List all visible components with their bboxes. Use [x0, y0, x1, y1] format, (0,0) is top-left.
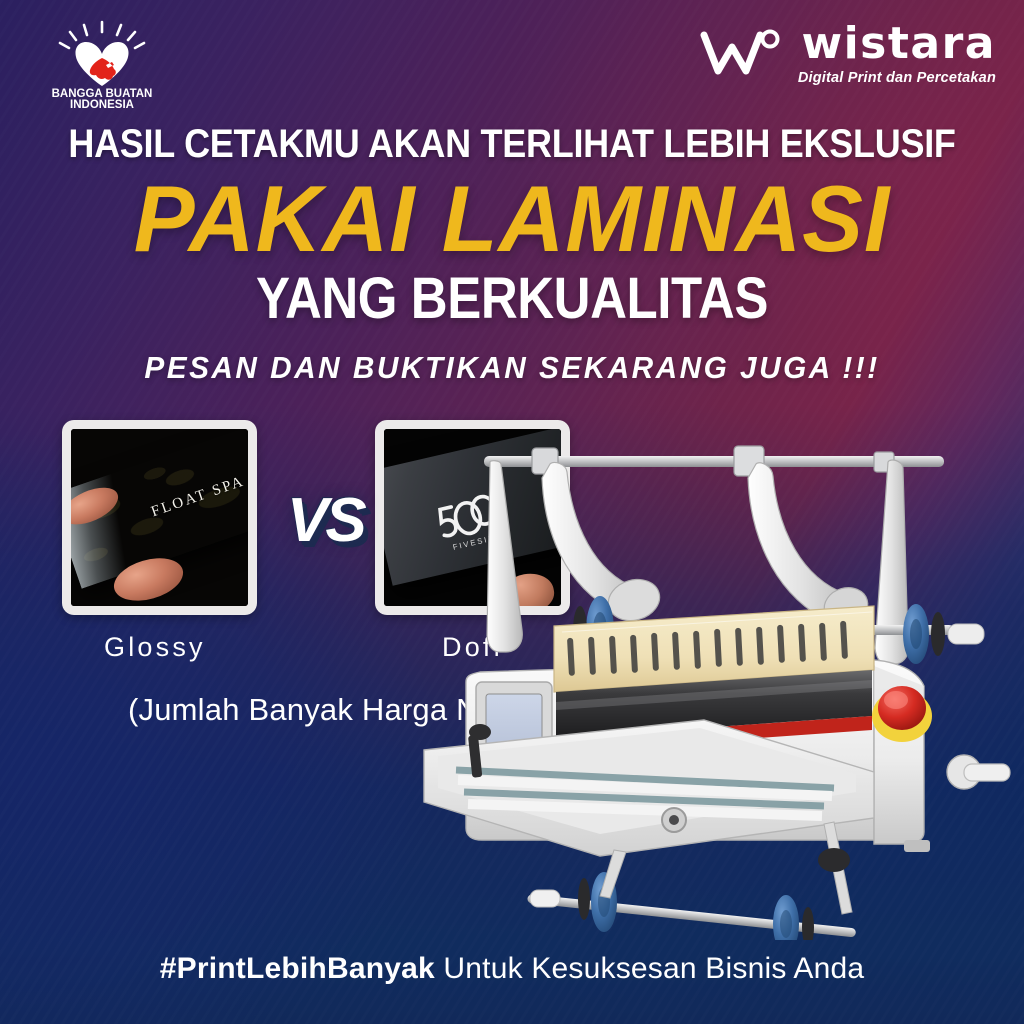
headline-block: HASIL CETAKMU AKAN TERLIHAT LEBIH EKSLUS…: [0, 122, 1024, 386]
headline-line-3: YANG BERKUALITAS: [61, 265, 962, 332]
headline-line-2: PAKAI LAMINASI: [15, 171, 1008, 267]
film-spool-right: [903, 604, 945, 664]
footer-tail: Untuk Kesuksesan Bisnis Anda: [435, 952, 864, 985]
bbi-line2: INDONESIA: [70, 99, 134, 110]
bangga-buatan-indonesia-logo: BANGGA BUATAN INDONESIA: [42, 18, 162, 110]
headline-line-4: PESAN DAN BUKTIKAN SEKARANG JUGA !!!: [20, 350, 1003, 386]
wistara-logo: wistara Digital Print dan Percetakan: [696, 22, 996, 86]
glossy-caption: Glossy: [104, 632, 206, 663]
promo-poster: BANGGA BUATAN INDONESIA wistara Digital …: [0, 0, 1024, 1024]
headline-line-1: HASIL CETAKMU AKAN TERLIHAT LEBIH EKSLUS…: [51, 122, 973, 167]
glossy-sample-photo: FLOAT SPA: [71, 429, 248, 606]
wistara-wordmark: wistara: [801, 22, 996, 66]
machine-side-knob: [947, 755, 1010, 789]
wistara-monogram-icon: [696, 25, 784, 83]
footer-hashtag: #PrintLebihBanyak: [160, 952, 435, 985]
glossy-sample-frame: FLOAT SPA: [62, 420, 257, 615]
wistara-tagline: Digital Print dan Percetakan: [798, 70, 996, 86]
laminating-machine-image: [404, 420, 1024, 940]
versus-badge: VS: [287, 490, 364, 552]
footer-tagline: #PrintLebihBanyak Untuk Kesuksesan Bisni…: [0, 952, 1024, 986]
